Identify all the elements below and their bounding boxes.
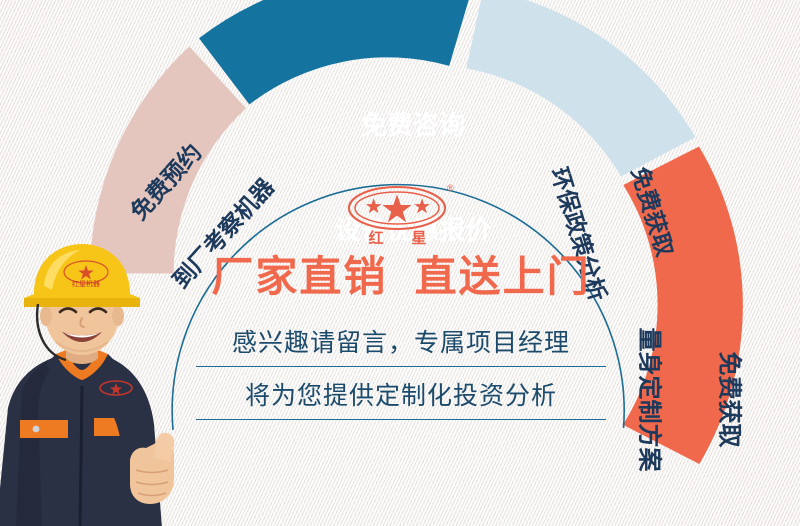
- worker-helmet: [24, 244, 140, 306]
- logo-char-right: 星: [411, 229, 426, 247]
- worker-helmet-brim: [24, 298, 140, 307]
- promo-banner: 免费预约 到厂考察机器 免费咨询 设备优惠报价 免费获取 环保政策分析 免费获取…: [0, 0, 800, 526]
- headline: 厂家直销 直送上门: [196, 256, 606, 298]
- star-icon-center: [382, 194, 411, 222]
- worker-photo: 红星机器: [0, 238, 226, 526]
- logo-registered-symbol: ®: [447, 183, 454, 193]
- worker-ear-right: [112, 306, 124, 326]
- logo-char-left: 红: [368, 229, 383, 247]
- star-icon-left: [366, 198, 382, 213]
- subtitle-line-2: 将为您提供定制化投资分析: [196, 367, 606, 420]
- center-content: ® 红 星 厂家直销 直送上门 感兴趣请留言，专属项目经理 将为您提供定制化投资…: [196, 182, 606, 420]
- wheel-segment-eco-policy[interactable]: [466, 0, 695, 177]
- worker-pocket-button-left: [33, 426, 40, 433]
- wheel-segment-custom-plan[interactable]: [623, 147, 743, 465]
- worker-zipper: [80, 386, 82, 526]
- worker-ear-left: [40, 306, 52, 326]
- wheel-segment-free-consult[interactable]: [199, 0, 473, 105]
- hongxing-logo-mark: ® 红 星: [343, 182, 459, 248]
- worker-helmet-logo-text: 红星机器: [72, 279, 100, 288]
- star-icon-right: [414, 198, 430, 213]
- worker-pocket-left: [20, 420, 68, 438]
- subtitle-line-1: 感兴趣请留言，专属项目经理: [196, 314, 606, 367]
- brand-logo: ® 红 星: [343, 182, 459, 248]
